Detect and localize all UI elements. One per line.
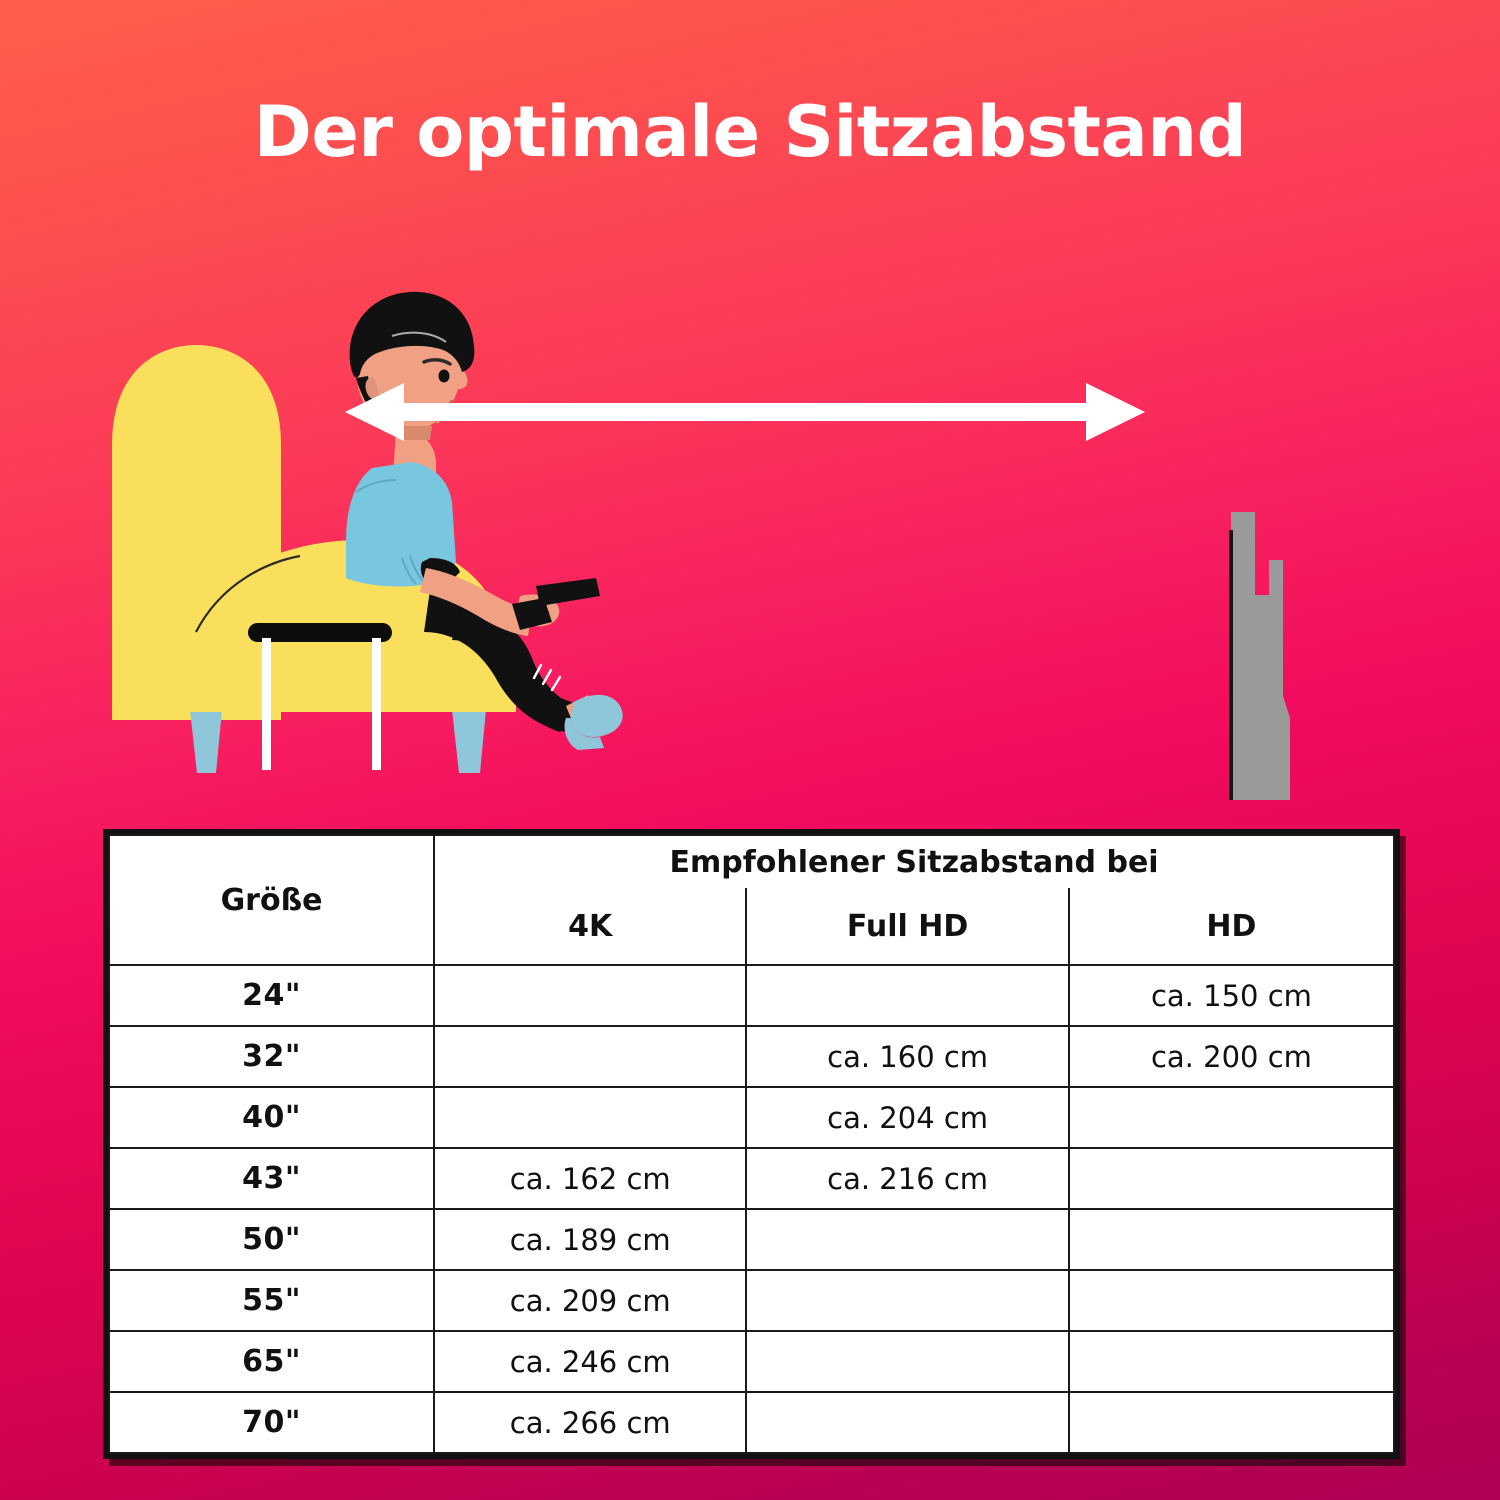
- cell-fullhd: [746, 965, 1069, 1026]
- table-header: Größe Empfohlener Sitzabstand bei 4K Ful…: [109, 835, 1394, 965]
- cell-hd: [1069, 1148, 1394, 1209]
- cell-fullhd: [746, 1392, 1069, 1453]
- cell-hd: ca. 150 cm: [1069, 965, 1394, 1026]
- viewing-distance-arrow: [345, 383, 1145, 441]
- header-group: Empfohlener Sitzabstand bei: [434, 835, 1394, 888]
- cell-size: 55": [109, 1270, 434, 1331]
- cell-hd: ca. 200 cm: [1069, 1026, 1394, 1087]
- table-row: 40" ca. 204 cm: [109, 1087, 1394, 1148]
- cell-4k: ca. 209 cm: [434, 1270, 746, 1331]
- header-4k: 4K: [434, 888, 746, 965]
- header-hd: HD: [1069, 888, 1394, 965]
- cell-4k: [434, 1026, 746, 1087]
- cell-fullhd: [746, 1209, 1069, 1270]
- cell-4k: ca. 189 cm: [434, 1209, 746, 1270]
- cell-4k: ca. 162 cm: [434, 1148, 746, 1209]
- cell-4k: ca. 266 cm: [434, 1392, 746, 1453]
- cell-size: 24": [109, 965, 434, 1026]
- table-row: 55" ca. 209 cm: [109, 1270, 1394, 1331]
- table-row: 70" ca. 266 cm: [109, 1392, 1394, 1453]
- table-row: 50" ca. 189 cm: [109, 1209, 1394, 1270]
- cell-size: 40": [109, 1087, 434, 1148]
- cell-hd: [1069, 1331, 1394, 1392]
- cell-size: 50": [109, 1209, 434, 1270]
- page-title: Der optimale Sitzabstand: [0, 96, 1500, 170]
- table-row: 65" ca. 246 cm: [109, 1331, 1394, 1392]
- television-side-view: [1219, 512, 1313, 800]
- cell-size: 43": [109, 1148, 434, 1209]
- cell-hd: [1069, 1087, 1394, 1148]
- cell-hd: [1069, 1392, 1394, 1453]
- cell-hd: [1069, 1209, 1394, 1270]
- table-row: 32" ca. 160 cm ca. 200 cm: [109, 1026, 1394, 1087]
- cell-fullhd: ca. 216 cm: [746, 1148, 1069, 1209]
- seating-distance-illustration: [0, 240, 1500, 800]
- header-fullhd: Full HD: [746, 888, 1069, 965]
- cell-fullhd: ca. 204 cm: [746, 1087, 1069, 1148]
- cell-4k: [434, 1087, 746, 1148]
- cell-fullhd: [746, 1270, 1069, 1331]
- table-row: 43" ca. 162 cm ca. 216 cm: [109, 1148, 1394, 1209]
- cell-4k: ca. 246 cm: [434, 1331, 746, 1392]
- seating-distance-table: Größe Empfohlener Sitzabstand bei 4K Ful…: [103, 829, 1400, 1459]
- cell-fullhd: ca. 160 cm: [746, 1026, 1069, 1087]
- cell-fullhd: [746, 1331, 1069, 1392]
- cell-hd: [1069, 1270, 1394, 1331]
- table-row: 24" ca. 150 cm: [109, 965, 1394, 1026]
- table-body: 24" ca. 150 cm 32" ca. 160 cm ca. 200 cm…: [109, 965, 1394, 1453]
- header-size: Größe: [109, 835, 434, 965]
- cell-size: 65": [109, 1331, 434, 1392]
- cell-4k: [434, 965, 746, 1026]
- infographic-canvas: Der optimale Sitzabstand: [0, 0, 1500, 1500]
- cell-size: 32": [109, 1026, 434, 1087]
- cell-size: 70": [109, 1392, 434, 1453]
